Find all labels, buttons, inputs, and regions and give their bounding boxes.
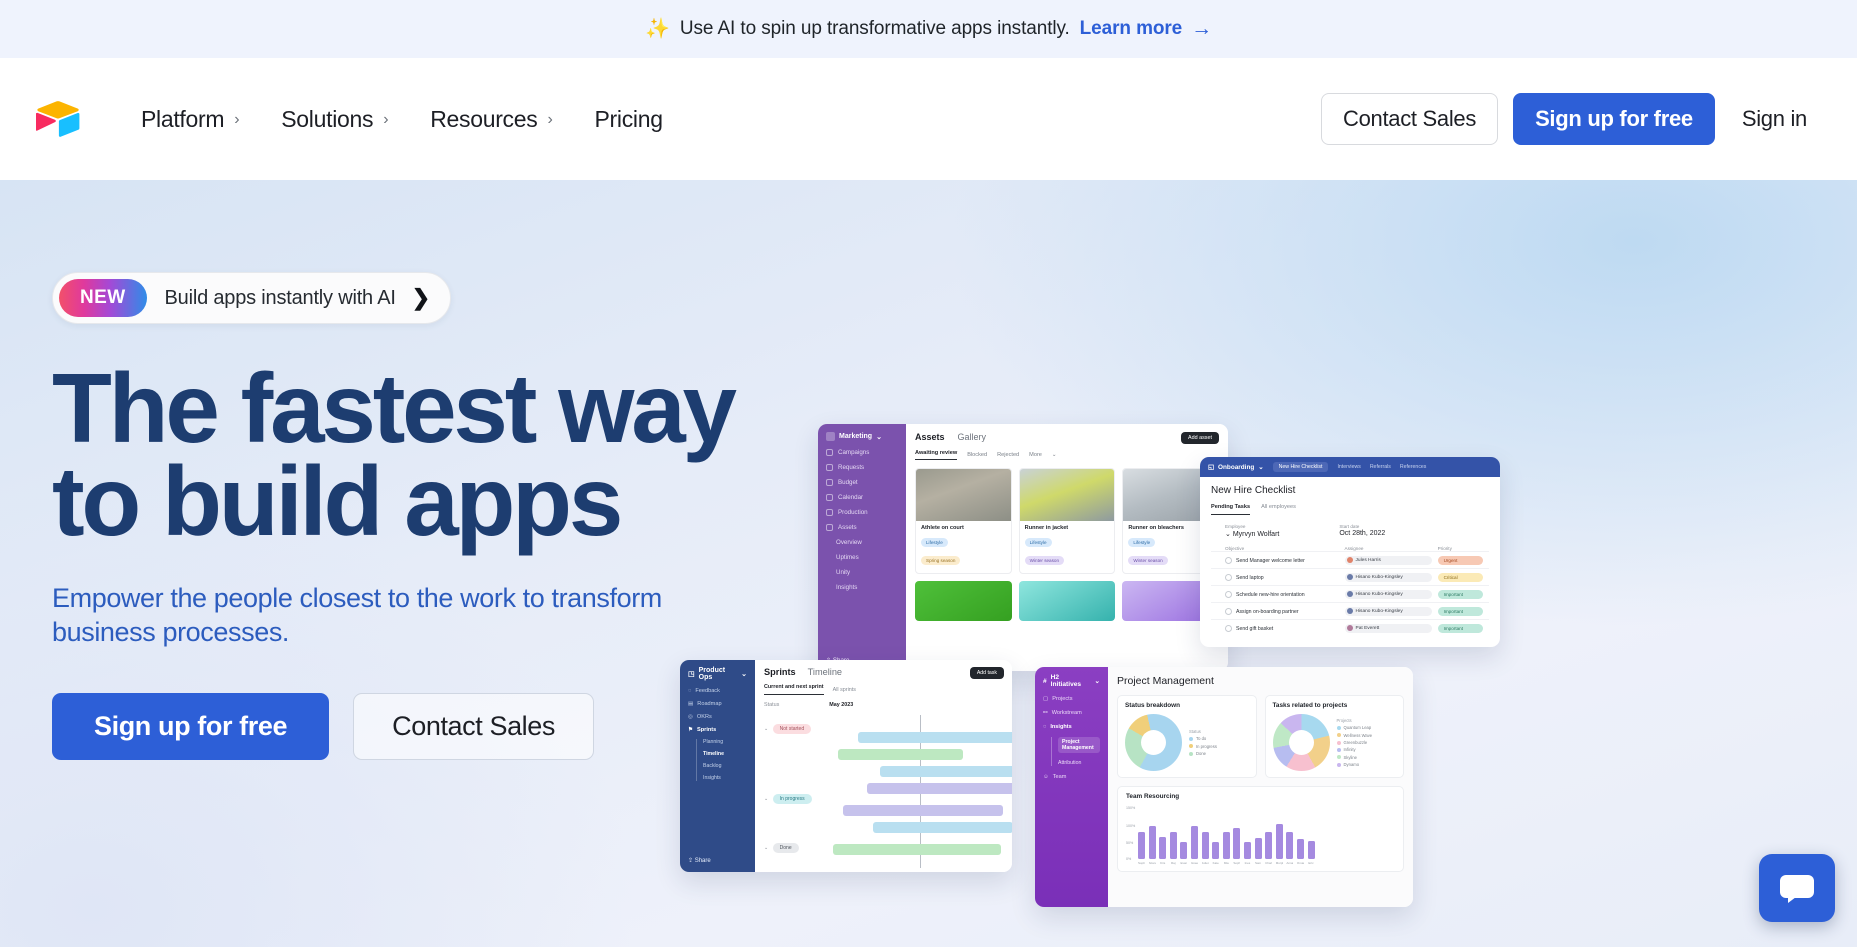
tab-timeline[interactable]: Timeline	[808, 667, 842, 677]
workstream-icon: ⚯	[1043, 710, 1048, 716]
column-assignee: Assignee	[1345, 546, 1432, 551]
add-task-button[interactable]: Add task	[970, 667, 1004, 679]
y-tick-label: 150%	[1126, 806, 1135, 810]
x-tick-label: Evan	[1180, 861, 1187, 865]
bar	[1308, 841, 1315, 859]
x-tick-label: Sophie	[1138, 861, 1145, 865]
sidebar-item-label: Insights	[1050, 724, 1071, 730]
sprints-app-title: ◳ Product Ops ⌄	[688, 667, 747, 681]
banner-text: Use AI to spin up transformative apps in…	[680, 18, 1070, 40]
nav-item-pricing-label: Pricing	[595, 106, 663, 133]
asset-thumbnail	[1020, 469, 1115, 521]
dashboard-sub-list: Project Management Attribution	[1051, 737, 1100, 766]
sign-in-link[interactable]: Sign in	[1730, 96, 1819, 142]
status-legend: Status To do In progress Done	[1189, 729, 1217, 756]
panel-title: Tasks related to projects	[1273, 702, 1397, 709]
image-icon	[826, 524, 833, 531]
assets-app-name: Marketing	[839, 433, 872, 440]
add-asset-button[interactable]: Add asset	[1181, 432, 1219, 444]
nav-links: Platform › Solutions › Resources › Prici…	[120, 96, 684, 143]
chevron-down-icon: ⌄	[741, 670, 747, 678]
subtab-all-sprints[interactable]: All sprints	[833, 687, 856, 693]
chat-bubble-icon	[1778, 873, 1816, 903]
chevron-down-icon: ⌄	[1258, 463, 1263, 471]
timeline-bar[interactable]	[867, 783, 1012, 794]
timeline-bar[interactable]	[843, 805, 1003, 816]
sidebar-subitem-planning[interactable]: Planning	[703, 739, 747, 745]
sprints-sidebar-list: ◌Feedback ▤Roadmap ◎OKRs ⚑Sprints	[688, 688, 747, 733]
x-tick-label: Raj	[1170, 861, 1177, 865]
onboarding-employee-row: Employee ⌄ Myrvyn Wolfart Start date Oct…	[1211, 524, 1489, 538]
start-date-label: Start date	[1339, 524, 1385, 529]
avatar	[1347, 608, 1353, 614]
hero-sign-up-button[interactable]: Sign up for free	[52, 693, 329, 760]
row-objective: Schedule new-hire orientation	[1236, 591, 1305, 597]
new-pill-label: Build apps instantly with AI	[147, 287, 412, 310]
sidebar-item-label: Campaigns	[838, 449, 869, 456]
sidebar-item[interactable]: ◌Feedback	[688, 688, 747, 694]
subtab-all-employees[interactable]: All employees	[1261, 504, 1296, 515]
contact-sales-button[interactable]: Contact Sales	[1321, 93, 1498, 145]
sidebar-item-label: Assets	[838, 524, 857, 531]
assets-grid: Athlete on court Lifestyle Spring season…	[915, 468, 1219, 574]
subtab-current-next-sprint[interactable]: Current and next sprint	[764, 684, 824, 695]
assets-main: Add asset Assets Gallery Awaiting review…	[906, 424, 1228, 671]
team-resourcing-panel: Team Resourcing 150% 100% 50% 0% SophieA…	[1117, 786, 1404, 872]
sidebar-item[interactable]: Overview	[836, 539, 898, 546]
sidebar-item[interactable]: Insights	[836, 584, 898, 591]
sidebar-item[interactable]: Unity	[836, 569, 898, 576]
flag-icon: ⚑	[688, 727, 693, 733]
filter-more[interactable]: More	[1029, 452, 1042, 458]
bar	[1180, 842, 1187, 859]
bar	[1138, 832, 1145, 859]
avatar	[1347, 557, 1353, 563]
asset-tag: Spring season	[921, 556, 960, 565]
target-icon: ◎	[688, 714, 693, 720]
sidebar-item[interactable]: ▤Roadmap	[688, 701, 747, 707]
sign-up-button[interactable]: Sign up for free	[1513, 93, 1715, 145]
timeline-bar[interactable]	[880, 766, 1012, 777]
team-resourcing-bar-chart	[1126, 805, 1395, 859]
x-tick-label: Omar	[1297, 861, 1304, 865]
checkbox-icon[interactable]	[1225, 625, 1232, 632]
sidebar-item-label: Team	[1053, 774, 1067, 780]
sidebar-item-label: Production	[838, 509, 868, 516]
timeline-bar[interactable]	[838, 749, 963, 760]
bar	[1233, 828, 1240, 859]
legend-item: Infinity	[1337, 747, 1373, 752]
nav-item-pricing[interactable]: Pricing	[574, 96, 684, 143]
x-tick-label: Sam	[1255, 861, 1262, 865]
sprints-sub-list: Planning Timeline Backlog Insights	[696, 739, 747, 781]
sidebar-item[interactable]: ◎OKRs	[688, 714, 747, 720]
main-navigation: Platform › Solutions › Resources › Prici…	[0, 58, 1857, 180]
sidebar-subitem-attribution[interactable]: Attribution	[1058, 760, 1100, 766]
sidebar-subitem-label: Backlog	[703, 763, 721, 769]
sidebar-item-sprints[interactable]: ⚑Sprints	[688, 727, 747, 733]
dashboard-app-title: # H2 Initiatives ⌄	[1043, 674, 1100, 688]
hero-cta-row: Sign up for free Contact Sales	[52, 693, 752, 760]
sidebar-item-label: Budget	[838, 479, 858, 486]
employee-label: Employee	[1225, 524, 1279, 529]
dashboard-panels: Status breakdown Status To do In progres…	[1117, 695, 1404, 778]
sprints-app-name: Product Ops	[699, 667, 738, 681]
onboarding-card[interactable]: ◱ Onboarding ⌄ New Hire Checklist Interv…	[1200, 457, 1500, 647]
assets-sidebar-list: Campaigns Requests Budget Calendar Produ…	[826, 449, 898, 591]
chevron-right-icon: ›	[383, 111, 388, 129]
sidebar-subitem-insights[interactable]: Insights	[703, 775, 747, 781]
asset-name: Runner in jacket	[1025, 525, 1110, 531]
sidebar-item-label: Projects	[1052, 696, 1072, 702]
status-badge: In progress	[773, 794, 812, 804]
sprints-columns: Status May 2023	[764, 702, 1012, 708]
assets-app-title: Marketing ⌄	[826, 432, 898, 441]
bar	[1265, 832, 1272, 859]
x-tick-label: Charlie	[1265, 861, 1272, 865]
tab-assets[interactable]: Assets	[915, 432, 945, 442]
asset-tag: Lifestyle	[921, 538, 948, 547]
asset-tag: Winter season	[1025, 556, 1064, 565]
lightbulb-icon: ◌	[1043, 724, 1046, 730]
onboarding-app-title: ◱ Onboarding ⌄	[1208, 463, 1264, 471]
table-row[interactable]: Schedule new-hire orientation Hisano Kub…	[1211, 585, 1489, 602]
sidebar-item-label: Roadmap	[697, 701, 721, 707]
asset-thumbnail	[916, 469, 1011, 521]
status-badge: Not started	[773, 724, 811, 734]
new-feature-pill[interactable]: NEW Build apps instantly with AI ❯	[52, 272, 451, 324]
onboarding-subtabs: Pending Tasks All employees	[1211, 504, 1489, 515]
y-tick-label: 50%	[1126, 841, 1133, 845]
row-objective: Send laptop	[1236, 574, 1264, 580]
sidebar-item-insights[interactable]: ◌Insights	[1043, 724, 1100, 730]
row-objective: Send gift basket	[1236, 625, 1273, 631]
tab-references[interactable]: References	[1400, 464, 1427, 470]
legend-title: Projects	[1337, 718, 1373, 723]
bar	[1244, 842, 1251, 859]
dashboard-app-name: H2 Initiatives	[1051, 674, 1091, 688]
x-tick-label: Juliet	[1202, 861, 1209, 865]
sidebar-item-label: Sprints	[697, 727, 716, 733]
bar	[1149, 826, 1156, 859]
box-icon	[826, 509, 833, 516]
tab-new-hire-checklist[interactable]: New Hire Checklist	[1273, 462, 1329, 472]
legend-item: Skyline	[1337, 755, 1373, 760]
asset-card[interactable]: Athlete on court Lifestyle Spring season	[915, 468, 1012, 574]
assets-grid-row-2	[915, 581, 1219, 621]
bar	[1223, 832, 1230, 859]
sidebar-item-label: Unity	[836, 569, 850, 576]
checkbox-icon[interactable]	[1225, 557, 1232, 564]
app-icon: ◳	[688, 670, 695, 678]
chat-widget[interactable]	[1759, 854, 1835, 922]
nav-item-resources-label: Resources	[430, 106, 537, 133]
status-badge: Important	[1438, 590, 1483, 599]
x-tick-label: Kris	[1159, 861, 1166, 865]
y-tick-label: 0%	[1126, 857, 1131, 861]
filter-rejected[interactable]: Rejected	[997, 452, 1019, 458]
app-icon	[826, 432, 835, 441]
asset-thumbnail[interactable]	[1019, 581, 1116, 621]
x-tick-label: Graeme	[1191, 861, 1198, 865]
dashboard-main: Project Management Status breakdown Stat…	[1108, 667, 1413, 907]
hero-contact-sales-button[interactable]: Contact Sales	[353, 693, 594, 760]
chevron-right-icon: ›	[234, 111, 239, 129]
tab-referrals[interactable]: Referrals	[1370, 464, 1391, 470]
nav-actions: Contact Sales Sign up for free Sign in	[1321, 93, 1819, 145]
row-assignee: Hisano Kubo-Kingsley	[1345, 607, 1432, 616]
page-title: The fastest way to build apps	[52, 362, 752, 548]
bar	[1255, 838, 1262, 859]
checkbox-icon[interactable]	[1225, 608, 1232, 615]
sidebar-item-label: Feedback	[695, 688, 720, 694]
tab-gallery[interactable]: Gallery	[958, 432, 987, 442]
arrow-right-icon: →	[1191, 17, 1212, 41]
app-icon: ◱	[1208, 463, 1214, 471]
calendar-icon	[826, 494, 833, 501]
sidebar-subitem-label: Timeline	[703, 751, 724, 757]
timeline-bar[interactable]	[833, 844, 1001, 855]
sidebar-item-team[interactable]: ☺Team	[1043, 774, 1100, 780]
bar	[1202, 832, 1209, 859]
sprints-subtabs: Current and next sprint All sprints	[764, 684, 1012, 695]
table-icon	[826, 449, 833, 456]
sidebar-item-workstream[interactable]: ⚯Workstream	[1043, 710, 1100, 716]
nav-item-platform-label: Platform	[141, 106, 224, 133]
tab-sprints[interactable]: Sprints	[764, 667, 796, 677]
panel-title: Status breakdown	[1125, 702, 1249, 709]
employee-name: ⌄ Myrvyn Wolfart	[1225, 530, 1279, 538]
x-tick-label: Mia	[1223, 861, 1230, 865]
asset-tag: Lifestyle	[1128, 538, 1155, 547]
sidebar-subitem-label: Insights	[703, 775, 721, 781]
tasks-related-donut-chart	[1273, 714, 1330, 771]
timeline-bar[interactable]	[873, 822, 1012, 833]
onboarding-table-header: Objective Assignee Priority	[1211, 546, 1489, 551]
bar	[1170, 832, 1177, 859]
sidebar-item-projects[interactable]: ▢Projects	[1043, 696, 1100, 702]
filter-blocked[interactable]: Blocked	[967, 452, 987, 458]
assets-filters: Awaiting review Blocked Rejected More ⌄	[915, 450, 1219, 460]
x-tick-label: Ines	[1244, 861, 1251, 865]
new-badge: NEW	[59, 279, 147, 317]
status-badge: Urgent	[1438, 556, 1483, 565]
avatar	[1347, 574, 1353, 580]
announcement-banner: ✨ Use AI to spin up transformative apps …	[0, 0, 1857, 58]
avatar	[1347, 625, 1353, 631]
status-badge: Important	[1438, 624, 1483, 633]
onboarding-body: New Hire Checklist Pending Tasks All emp…	[1200, 477, 1500, 644]
row-assignee: Jules Harris	[1345, 556, 1432, 565]
sidebar-item[interactable]: Budget	[826, 479, 898, 486]
asset-card[interactable]: Runner in jacket Lifestyle Winter season	[1019, 468, 1116, 574]
bar-chart-x-labels: SophieAlionaKrisRajEvanGraemeJulietKateM…	[1126, 861, 1395, 865]
hero-copy: NEW Build apps instantly with AI ❯ The f…	[52, 272, 752, 760]
start-date-value: Oct 28th, 2022	[1339, 530, 1385, 537]
sidebar-subitem-backlog[interactable]: Backlog	[703, 763, 747, 769]
column-status: Status	[764, 702, 779, 708]
legend-title: Status	[1189, 729, 1217, 734]
airtable-logo[interactable]	[36, 100, 80, 138]
sidebar-item-label: Insights	[836, 584, 857, 591]
feedback-icon: ◌	[688, 688, 691, 694]
x-tick-label: Kate	[1212, 861, 1219, 865]
column-priority: Priority	[1438, 546, 1483, 551]
bar	[1297, 839, 1304, 859]
bar	[1159, 837, 1166, 859]
legend-item: Greenbuzzle	[1337, 740, 1373, 745]
row-assignee: Pat Everett	[1345, 624, 1432, 633]
sidebar-subitem-project-management[interactable]: Project Management	[1058, 737, 1100, 753]
assets-tabs: Assets Gallery	[915, 432, 1181, 442]
app-icon: #	[1043, 678, 1047, 685]
x-tick-label: Murphy	[1276, 861, 1283, 865]
product-screenshot-collage: Project Tracker / Directory ⌄ Marketing …	[790, 462, 1857, 947]
table-row[interactable]: Send laptop Hisano Kubo-Kingsley Critica…	[1211, 568, 1489, 585]
sprints-timeline-card[interactable]: ◳ Product Ops ⌄ ◌Feedback ▤Roadmap ◎OKRs…	[680, 660, 1012, 872]
row-assignee: Hisano Kubo-Kingsley	[1345, 573, 1432, 582]
dashboard-sidebar: # H2 Initiatives ⌄ ▢Projects ⚯Workstream…	[1035, 667, 1108, 907]
nav-item-resources[interactable]: Resources ›	[409, 96, 573, 143]
row-objective: Send Manager welcome letter	[1236, 557, 1305, 563]
table-row[interactable]: Send gift basket Pat Everett Important	[1211, 619, 1489, 636]
dashboard-sidebar-list: ▢Projects ⚯Workstream ◌Insights	[1043, 696, 1100, 730]
learn-more-link[interactable]: Learn more →	[1080, 17, 1212, 41]
sidebar-subitem-timeline[interactable]: Timeline	[703, 751, 747, 757]
projects-icon: ▢	[1043, 696, 1048, 702]
legend-item: To do	[1189, 736, 1217, 741]
chevron-down-icon: ⌄	[1094, 677, 1100, 685]
sidebar-item-label: Requests	[838, 464, 864, 471]
x-tick-label: Eric	[1308, 861, 1315, 865]
sprints-main: Sprints Timeline Add task Current and ne…	[755, 660, 1012, 872]
row-assignee: Hisano Kubo-Kingsley	[1345, 590, 1432, 599]
status-breakdown-panel: Status breakdown Status To do In progres…	[1117, 695, 1257, 778]
tasks-related-panel: Tasks related to projects Projects Quant…	[1265, 695, 1405, 778]
legend-item: In progress	[1189, 744, 1217, 749]
assets-sidebar: Marketing ⌄ Campaigns Requests Budget Ca…	[818, 424, 906, 671]
x-tick-label: Sophia	[1233, 861, 1240, 865]
timeline-bar[interactable]	[858, 732, 1012, 743]
roadmap-icon: ▤	[688, 701, 693, 707]
legend-item: Dynamo	[1337, 762, 1373, 767]
bar	[1191, 826, 1198, 859]
marketing-assets-card[interactable]: Marketing ⌄ Campaigns Requests Budget Ca…	[818, 424, 1228, 671]
sidebar-item-label: Overview	[836, 539, 862, 546]
dashboard-title: Project Management	[1117, 675, 1404, 687]
x-tick-label: Anna	[1286, 861, 1293, 865]
status-badge: Critical	[1438, 573, 1483, 582]
status-badge: Done	[773, 843, 799, 853]
column-objective: Objective	[1225, 546, 1339, 551]
sprints-share-button[interactable]: ⇪ Share	[688, 857, 711, 864]
x-tick-label: Aliona	[1149, 861, 1156, 865]
grid-icon	[826, 479, 833, 486]
y-tick-label: 100%	[1126, 824, 1135, 828]
bar	[1212, 842, 1219, 859]
status-badge: Important	[1438, 607, 1483, 616]
bar	[1276, 824, 1283, 859]
row-objective: Assign on-boarding partner	[1236, 608, 1299, 614]
legend-item: Wellness Wave	[1337, 733, 1373, 738]
sidebar-item-label: Workstream	[1052, 710, 1082, 716]
chevron-right-icon: ›	[547, 111, 552, 129]
projects-legend: Projects Quantum Leap Wellness Wave Gree…	[1337, 718, 1373, 767]
sidebar-item[interactable]: Production	[826, 509, 898, 516]
nav-item-solutions[interactable]: Solutions ›	[260, 96, 409, 143]
tab-interviews[interactable]: Interviews	[1337, 464, 1360, 470]
sidebar-item[interactable]: Campaigns	[826, 449, 898, 456]
sidebar-subitem-label: Project Management	[1062, 739, 1096, 751]
sidebar-item[interactable]: Calendar	[826, 494, 898, 501]
table-row[interactable]: Assign on-boarding partner Hisano Kubo-K…	[1211, 602, 1489, 619]
form-icon	[826, 464, 833, 471]
sidebar-item-label: OKRs	[697, 714, 712, 720]
dashboard-sidebar-list-2: ☺Team	[1043, 774, 1100, 780]
asset-tag: Lifestyle	[1025, 538, 1052, 547]
table-row[interactable]: Send Manager welcome letter Jules Harris…	[1211, 551, 1489, 568]
project-management-dashboard-card[interactable]: # H2 Initiatives ⌄ ▢Projects ⚯Workstream…	[1035, 667, 1413, 907]
checkbox-icon[interactable]	[1225, 574, 1232, 581]
checkbox-icon[interactable]	[1225, 591, 1232, 598]
hero-subheadline: Empower the people closest to the work t…	[52, 582, 662, 649]
legend-item: Quantum Leap	[1337, 725, 1373, 730]
onboarding-header: ◱ Onboarding ⌄ New Hire Checklist Interv…	[1200, 457, 1500, 477]
sidebar-item[interactable]: Assets	[826, 524, 898, 531]
chevron-right-icon: ❯	[412, 285, 442, 311]
onboarding-app-name: Onboarding	[1218, 464, 1254, 471]
column-month: May 2023	[829, 702, 853, 708]
chevron-down-icon: ⌄	[1052, 452, 1057, 458]
asset-tag: Winter season	[1128, 556, 1167, 565]
bar	[1286, 832, 1293, 859]
legend-item: Done	[1189, 751, 1217, 756]
nav-item-solutions-label: Solutions	[281, 106, 373, 133]
status-breakdown-donut-chart	[1125, 714, 1182, 771]
panel-title: Team Resourcing	[1126, 793, 1395, 800]
filter-awaiting-review[interactable]: Awaiting review	[915, 450, 957, 460]
sprints-sidebar: ◳ Product Ops ⌄ ◌Feedback ▤Roadmap ◎OKRs…	[680, 660, 755, 872]
hero-section: NEW Build apps instantly with AI ❯ The f…	[0, 180, 1857, 947]
sidebar-item-label: Calendar	[838, 494, 863, 501]
sidebar-item-label: Uptimes	[836, 554, 859, 561]
sidebar-subitem-label: Planning	[703, 739, 723, 745]
sparkles-icon: ✨	[645, 19, 670, 39]
sidebar-item[interactable]: Requests	[826, 464, 898, 471]
learn-more-label: Learn more	[1080, 18, 1182, 40]
onboarding-title: New Hire Checklist	[1211, 485, 1489, 496]
chevron-down-icon: ⌄	[876, 433, 882, 441]
nav-item-platform[interactable]: Platform ›	[120, 96, 260, 143]
team-icon: ☺	[1043, 774, 1049, 780]
subtab-pending-tasks[interactable]: Pending Tasks	[1211, 504, 1250, 515]
avatar	[1347, 591, 1353, 597]
sprints-share-label: Share	[695, 858, 711, 864]
asset-thumbnail[interactable]	[915, 581, 1012, 621]
sidebar-subitem-label: Attribution	[1058, 760, 1081, 766]
sidebar-item[interactable]: Uptimes	[836, 554, 898, 561]
asset-name: Athlete on court	[921, 525, 1006, 531]
